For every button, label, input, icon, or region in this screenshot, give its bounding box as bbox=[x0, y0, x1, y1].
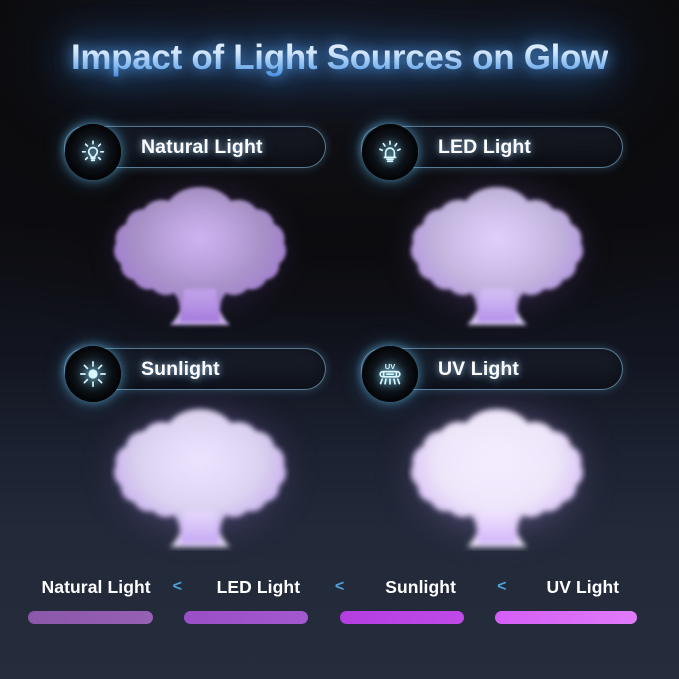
glow-object-shape bbox=[407, 401, 587, 551]
label-pill-uv-light[interactable]: UV UV Light bbox=[361, 348, 623, 390]
glow-object-uv-light bbox=[347, 392, 647, 560]
glow-object-shape bbox=[110, 401, 290, 551]
glow-object-sunlight bbox=[50, 392, 350, 560]
infographic-canvas: Impact of Light Sources on Glow Natural … bbox=[0, 0, 679, 679]
comparison-legend: Natural Light<LED Light<Sunlight<UV Ligh… bbox=[0, 572, 679, 642]
legend-label-row: Natural Light<LED Light<Sunlight<UV Ligh… bbox=[22, 572, 657, 602]
glow-object-shape bbox=[407, 179, 587, 329]
legend-separator: < bbox=[495, 578, 509, 596]
legend-item-label: LED Light bbox=[217, 577, 301, 598]
legend-item-label: Natural Light bbox=[42, 577, 151, 598]
panel-label: Natural Light bbox=[141, 136, 263, 159]
legend-bar bbox=[184, 611, 309, 624]
title-container: Impact of Light Sources on Glow bbox=[0, 38, 679, 78]
legend-separator: < bbox=[333, 578, 347, 596]
legend-bar bbox=[340, 611, 465, 624]
label-pill-led-light[interactable]: LED Light bbox=[361, 126, 623, 168]
legend-item-label: UV Light bbox=[547, 577, 620, 598]
legend-item-label: Sunlight bbox=[385, 577, 456, 598]
panel-led-light: LED Light bbox=[347, 118, 647, 340]
page-title: Impact of Light Sources on Glow bbox=[71, 38, 608, 78]
legend-bar bbox=[28, 611, 153, 624]
panel-label: LED Light bbox=[438, 136, 531, 159]
legend-bar bbox=[495, 611, 637, 624]
svg-text:UV: UV bbox=[385, 362, 396, 371]
glow-object-natural-light bbox=[50, 170, 350, 338]
legend-bar-slot bbox=[340, 610, 496, 624]
legend-item: UV Light bbox=[509, 572, 657, 602]
label-pill-sunlight[interactable]: Sunlight bbox=[64, 348, 326, 390]
panel-uv-light: UV UV Light bbox=[347, 340, 647, 562]
panel-natural-light: Natural Light bbox=[50, 118, 350, 340]
legend-bar-slot bbox=[28, 610, 184, 624]
glow-object-led-light bbox=[347, 170, 647, 338]
legend-item: LED Light bbox=[184, 572, 332, 602]
legend-bar-slot bbox=[184, 610, 340, 624]
legend-bar-slot bbox=[495, 610, 651, 624]
legend-item: Natural Light bbox=[22, 572, 170, 602]
glow-object-shape bbox=[110, 179, 290, 329]
panel-label: UV Light bbox=[438, 358, 519, 381]
panel-sunlight: Sunlight bbox=[50, 340, 350, 562]
label-pill-natural-light[interactable]: Natural Light bbox=[64, 126, 326, 168]
legend-bar-row bbox=[28, 610, 651, 624]
legend-separator: < bbox=[170, 578, 184, 596]
panel-label: Sunlight bbox=[141, 358, 220, 381]
legend-item: Sunlight bbox=[347, 572, 495, 602]
